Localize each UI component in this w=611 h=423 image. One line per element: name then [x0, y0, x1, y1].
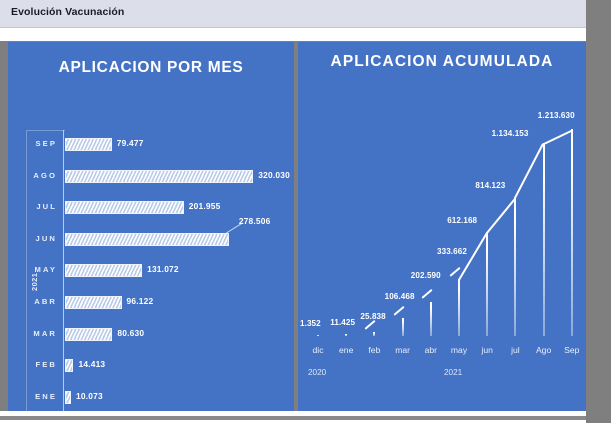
chart-panel-monthly: APLICACION POR MES 2021 2020 SEP79.477AG…	[8, 42, 294, 413]
vertical-bar	[373, 332, 375, 336]
x-axis-tick-label: mar	[395, 345, 410, 355]
bar-category-label: ENE	[35, 392, 57, 401]
bar-row: JUN278.506	[63, 225, 293, 255]
slide-canvas: Evolución Vacunación APLICACION POR MES …	[0, 0, 611, 423]
x-axis-tick-label: feb	[368, 345, 380, 355]
window-right-strip	[586, 0, 611, 423]
bar-category-label: AGO	[33, 171, 57, 180]
horizontal-bar	[65, 359, 73, 372]
horizontal-bar	[65, 138, 112, 151]
vertical-bar	[345, 334, 347, 336]
vertical-bar	[402, 318, 404, 336]
bar-row: MAR80.630	[63, 320, 293, 350]
bar-row: MAY131.072	[63, 256, 293, 286]
bar-value-label: 1.352	[300, 319, 321, 328]
bar-category-label: SEP	[36, 139, 58, 148]
window-header: Evolución Vacunación	[0, 0, 586, 28]
trend-connector-line	[514, 143, 544, 199]
x-axis-tick-label: dic	[313, 345, 324, 355]
vertical-bar	[514, 197, 516, 336]
horizontal-bar	[65, 233, 229, 246]
bar-value-label: 10.073	[76, 391, 103, 401]
value-leader-line	[421, 289, 432, 299]
bar-value-label: 14.413	[78, 359, 105, 369]
bar-row: ABR96.122	[63, 288, 293, 318]
bar-value-label: 131.072	[147, 264, 179, 274]
trend-connector-line	[458, 232, 488, 281]
value-leader-line	[449, 267, 460, 277]
bar-value-label: 333.662	[437, 247, 467, 256]
value-leader-line	[393, 306, 404, 316]
bar-row: SEP79.477	[63, 130, 293, 160]
bar-value-label: 320.030	[258, 170, 290, 180]
bar-value-label: 814.123	[475, 181, 505, 190]
bar-category-label: ABR	[34, 297, 57, 306]
bar-value-label: 1.134.153	[492, 129, 529, 138]
value-leader-line	[365, 319, 376, 329]
bar-row: AGO320.030	[63, 162, 293, 192]
vertical-bar	[543, 143, 545, 336]
vertical-bar	[486, 232, 488, 336]
bar-value-label: 278.506	[239, 216, 271, 226]
bar-value-label: 79.477	[117, 138, 144, 148]
bar-value-label: 202.590	[411, 271, 441, 280]
x-axis-tick-label: abr	[425, 345, 437, 355]
vertical-bar	[430, 302, 432, 337]
x-axis-tick-label: jun	[481, 345, 492, 355]
bar-row: FEB14.413	[63, 351, 293, 381]
bar-value-label: 11.425	[330, 318, 355, 327]
bar-category-label: MAR	[33, 329, 57, 338]
horizontal-bar	[65, 328, 112, 341]
x-axis-tick-label: may	[451, 345, 467, 355]
horizontal-bar	[65, 201, 184, 214]
x-axis-year-label-2020: 2020	[308, 368, 326, 377]
trend-connector-line	[486, 198, 516, 234]
horizontal-bar	[65, 296, 122, 309]
slide-bottom-divider	[0, 416, 586, 420]
bar-value-label: 612.168	[447, 216, 477, 225]
trend-connector-line	[543, 129, 572, 145]
header-spacer	[0, 28, 586, 41]
x-axis-tick-label: Sep	[564, 345, 579, 355]
vertical-bar	[317, 335, 319, 337]
horizontal-bar	[65, 170, 253, 183]
vertical-bar	[458, 279, 460, 336]
right-chart-plot: dic1.352ene11.425feb25.838mar106.468abr2…	[298, 42, 586, 413]
bar-category-label: MAY	[35, 265, 57, 274]
x-axis-tick-label: Ago	[536, 345, 551, 355]
x-axis-year-label-2021: 2021	[444, 368, 462, 377]
bar-category-label: JUN	[36, 234, 58, 243]
bar-value-label: 106.468	[385, 292, 415, 301]
vertical-bar	[571, 129, 573, 336]
left-chart-title: APLICACION POR MES	[8, 59, 294, 77]
bar-value-label: 96.122	[127, 296, 154, 306]
year-axis-label-2021: 2021	[30, 273, 39, 291]
x-axis-tick-label: ene	[339, 345, 353, 355]
horizontal-bar	[65, 264, 142, 277]
bar-category-label: FEB	[36, 360, 58, 369]
bar-row: ENE10.073	[63, 383, 293, 413]
bar-value-label: 201.955	[189, 201, 221, 211]
horizontal-bar	[65, 391, 71, 404]
bar-value-label: 1.213.630	[538, 111, 575, 120]
chart-panel-cumulative: APLICACION ACUMULADA dic1.352ene11.425fe…	[298, 42, 586, 413]
bar-value-label: 80.630	[117, 328, 144, 338]
page-title: Evolución Vacunación	[11, 6, 124, 18]
bar-category-label: JUL	[36, 202, 57, 211]
x-axis-tick-label: jul	[511, 345, 520, 355]
